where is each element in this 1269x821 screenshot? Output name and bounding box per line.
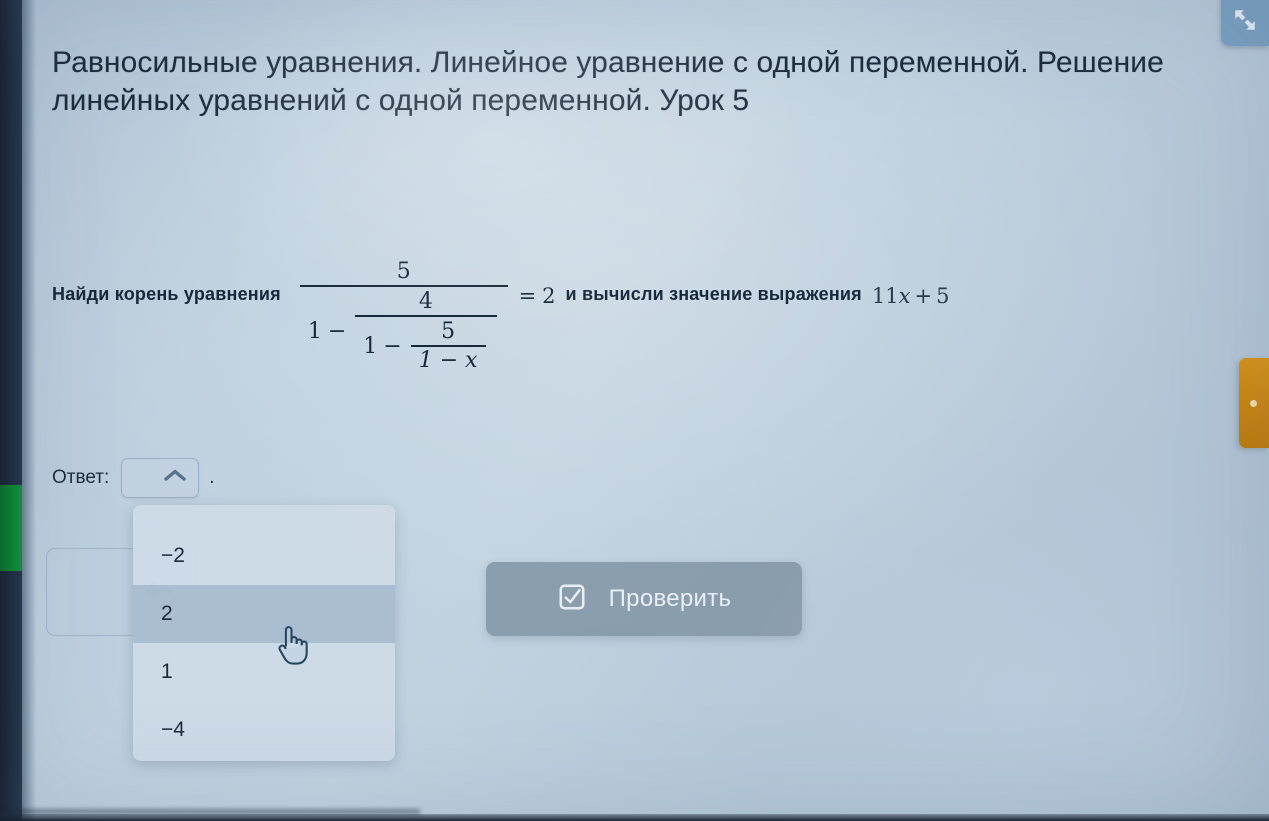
dropdown-option[interactable]: 1 (133, 643, 395, 701)
fullscreen-expand-icon (1232, 7, 1258, 38)
checkbox-checked-icon (557, 582, 587, 617)
dropdown-option-label: −4 (161, 718, 185, 742)
answer-row: Ответ: . (52, 458, 215, 498)
middle-den-lead: 1 (363, 334, 377, 359)
check-button[interactable]: Проверить (486, 562, 802, 636)
device-left-bezel-shadow (22, 0, 36, 821)
outer-denominator: 1 − 4 1 − 5 (300, 287, 508, 376)
lesson-screen: Равносильные уравнения. Линейное уравнен… (0, 0, 1269, 821)
outer-den-minus: − (328, 319, 346, 344)
fullscreen-button[interactable] (1221, 0, 1269, 46)
dropdown-option[interactable]: −2 (133, 527, 395, 585)
outer-fraction: 5 1 − 4 1 − (300, 258, 508, 376)
question-middle-text: и вычисли значение выражения (566, 258, 862, 305)
device-bottom-bezel (0, 814, 1269, 821)
middle-fraction: 4 1 − 5 1 − x (355, 288, 496, 375)
equation-right-side: = 2 (519, 258, 556, 308)
expression-coefficient: 11 (872, 284, 899, 308)
device-left-bezel (0, 0, 22, 821)
middle-numerator: 4 (411, 288, 441, 315)
expression-variable: x (899, 284, 911, 308)
device-left-bezel-green-segment (0, 485, 22, 571)
dropdown-option-label: 1 (161, 660, 173, 684)
equation-fraction: 5 1 − 4 1 − (297, 258, 511, 376)
middle-den-minus: − (383, 334, 401, 359)
dropdown-option-label: −2 (161, 544, 185, 568)
expression-constant: 5 (936, 284, 949, 308)
screen-glare-secondary (729, 461, 1269, 821)
answer-dropdown-list[interactable]: −2 2 1 −4 (133, 505, 395, 761)
question-row: Найди корень уравнения 5 1 − 4 (52, 258, 1252, 376)
equation-result-value: 2 (542, 284, 555, 308)
side-tab-dot-icon (1250, 400, 1257, 407)
answer-period: . (209, 467, 214, 489)
chevron-up-icon (163, 468, 187, 488)
equals-sign: = (519, 284, 537, 308)
page-title: Равносильные уравнения. Линейное уравнен… (52, 44, 1252, 120)
question-lead-text: Найди корень уравнения (52, 258, 281, 305)
outer-numerator: 5 (389, 258, 419, 285)
inner-numerator: 5 (433, 318, 463, 345)
check-button-label: Проверить (609, 585, 732, 613)
outer-den-lead: 1 (308, 319, 322, 344)
answer-label: Ответ: (52, 467, 109, 489)
expression-to-evaluate: 11x+5 (872, 258, 950, 308)
dropdown-option-label: 2 (161, 602, 173, 626)
middle-denominator: 1 − 5 1 − x (355, 317, 496, 375)
inner-fraction: 5 1 − x (411, 318, 486, 374)
answer-select[interactable] (121, 458, 199, 498)
inner-denominator: 1 − x (411, 347, 486, 374)
dropdown-option[interactable]: 2 (133, 585, 395, 643)
dropdown-option[interactable]: −4 (133, 701, 395, 759)
expression-operator: + (914, 284, 932, 308)
